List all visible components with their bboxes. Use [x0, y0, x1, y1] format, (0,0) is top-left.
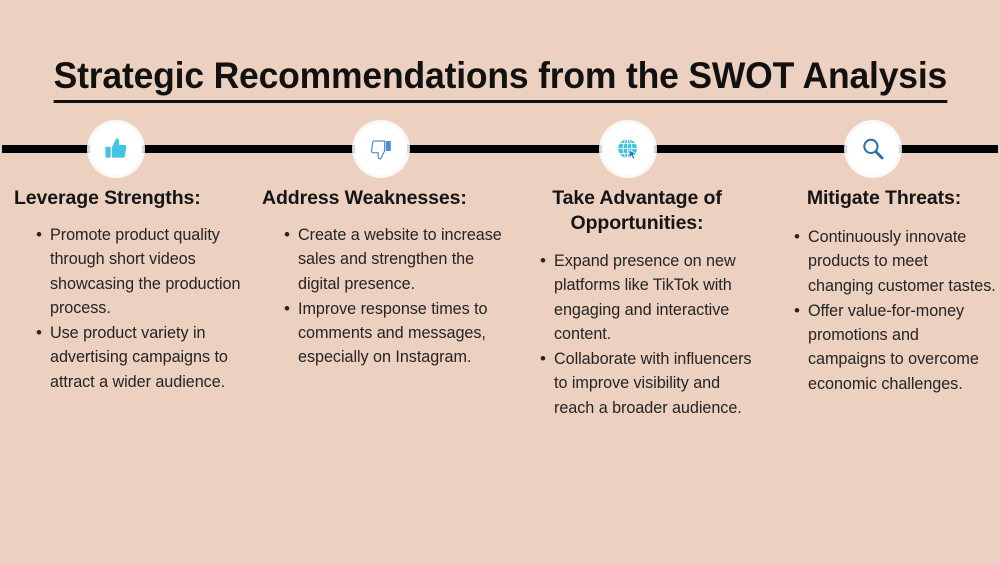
list-item: Create a website to increase sales and s…: [284, 223, 506, 296]
column-bullet-list: Promote product quality through short vi…: [14, 223, 252, 394]
list-item: Continuously innovate products to meet c…: [794, 225, 996, 298]
column-heading: Mitigate Threats:: [772, 186, 996, 211]
list-item: Improve response times to comments and m…: [284, 297, 506, 370]
column-heading: Take Advantage of Opportunities:: [518, 186, 756, 236]
column-mitigate-threats: Mitigate Threats: Continuously innovate …: [772, 186, 996, 397]
list-item: Offer value-for-money promotions and cam…: [794, 299, 996, 396]
list-item: Promote product quality through short vi…: [36, 223, 252, 320]
column-address-weaknesses: Address Weaknesses: Create a website to …: [262, 186, 506, 371]
thumbs-down-icon: [368, 136, 394, 162]
slide-canvas: Strategic Recommendations from the SWOT …: [0, 0, 1000, 563]
list-item: Collaborate with influencers to improve …: [540, 347, 756, 420]
column-heading: Leverage Strengths:: [14, 186, 252, 211]
column-bullet-list: Create a website to increase sales and s…: [262, 223, 506, 370]
list-item: Expand presence on new platforms like Ti…: [540, 249, 756, 346]
list-item: Use product variety in advertising campa…: [36, 321, 252, 394]
magnifier-icon: [860, 136, 886, 162]
timeline-node-weaknesses: [355, 123, 407, 175]
column-bullet-list: Expand presence on new platforms like Ti…: [518, 249, 756, 420]
globe-internet-icon: [615, 136, 641, 162]
timeline-node-strengths: [90, 123, 142, 175]
column-take-advantage-of-opportunities: Take Advantage of Opportunities: Expand …: [518, 186, 756, 421]
timeline-node-threats: [847, 123, 899, 175]
thumbs-up-icon: [102, 135, 130, 163]
title-container: Strategic Recommendations from the SWOT …: [0, 30, 1000, 128]
recommendation-columns: Leverage Strengths: Promote product qual…: [0, 186, 1000, 516]
column-leverage-strengths: Leverage Strengths: Promote product qual…: [14, 186, 252, 395]
column-bullet-list: Continuously innovate products to meet c…: [772, 225, 996, 396]
column-heading: Address Weaknesses:: [262, 186, 506, 211]
timeline-node-opportunities: [602, 123, 654, 175]
page-title: Strategic Recommendations from the SWOT …: [53, 55, 946, 104]
